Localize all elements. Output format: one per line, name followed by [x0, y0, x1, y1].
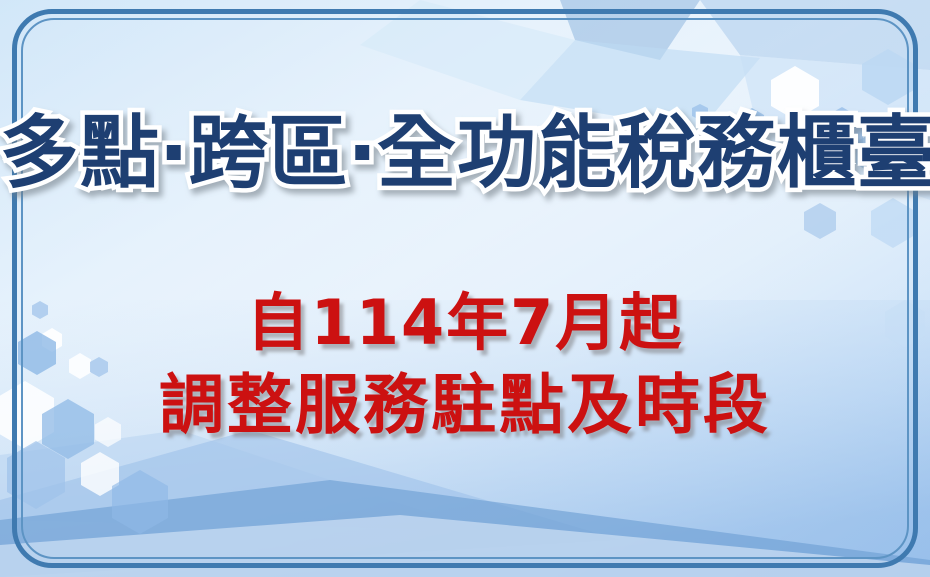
poster-subtitle-line-2: 調整服務駐點及時段	[0, 364, 930, 449]
poster-headline: 多點‧跨區‧全功能稅務櫃臺	[0, 112, 930, 196]
poster-canvas: 多點‧跨區‧全功能稅務櫃臺 自114年7月起 調整服務駐點及時段	[0, 0, 930, 577]
poster-subtitle-line-1: 自114年7月起	[0, 283, 930, 364]
poster-content: 多點‧跨區‧全功能稅務櫃臺 自114年7月起 調整服務駐點及時段	[0, 0, 930, 577]
poster-subtitle-group: 自114年7月起 調整服務駐點及時段	[0, 283, 930, 448]
